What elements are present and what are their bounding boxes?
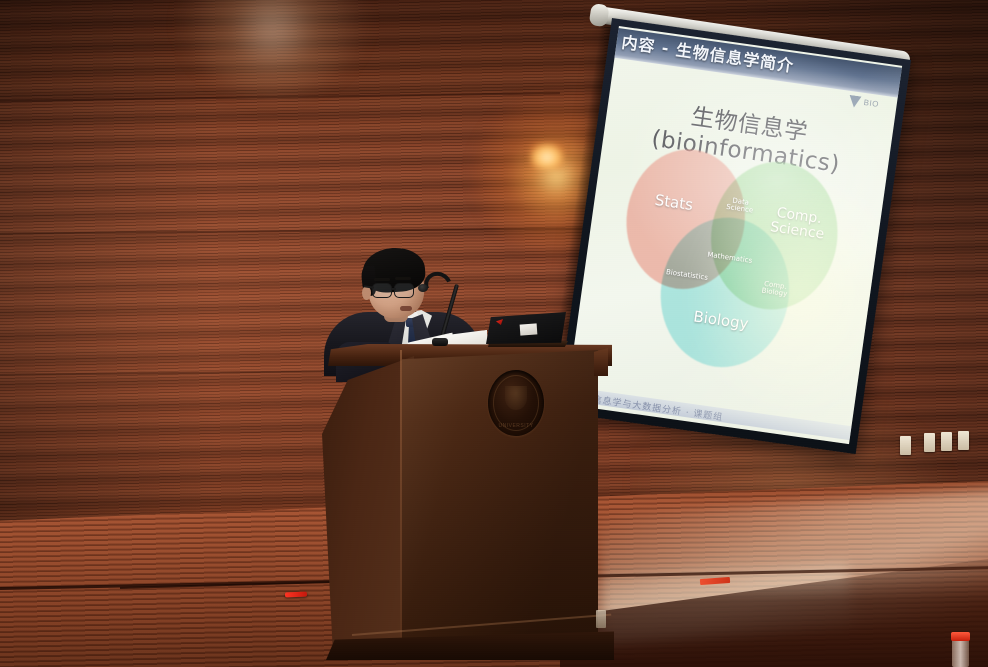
- water-bottle: [952, 638, 969, 667]
- logo-wordmark: BIO: [863, 98, 879, 109]
- red-cable-segment: [285, 592, 307, 598]
- light-switch-plate-4[interactable]: [958, 431, 969, 450]
- eyeglasses-lens-right: [394, 283, 414, 298]
- laptop[interactable]: [486, 312, 568, 350]
- projected-slide: 内容 - 生物信息学简介 BIO 生物信息学(bioinformatics) S…: [566, 26, 902, 444]
- eyeglasses-bridge: [391, 288, 396, 290]
- podium-right-lip: [594, 348, 608, 376]
- microphone-capsule-icon: [418, 284, 428, 292]
- podium-emblem-seal: UNIVERSITY: [488, 370, 544, 436]
- podium-side-fitting: [596, 610, 606, 628]
- logo-mark-icon: [848, 95, 862, 109]
- wall-sconce-lamp: [530, 143, 564, 169]
- eyeglasses-lens-left: [372, 283, 392, 298]
- microphone-base: [432, 338, 448, 346]
- emblem-text: UNIVERSITY: [498, 423, 533, 429]
- light-switch-plate-3[interactable]: [941, 432, 952, 451]
- light-switch-panel-group[interactable]: [900, 430, 984, 456]
- venn-diagram: Stats Comp. Science Biology Data Science…: [601, 141, 859, 386]
- podium: UNIVERSITY: [322, 338, 612, 658]
- emblem-crest-icon: [505, 386, 527, 410]
- laptop-sticker: [520, 323, 538, 335]
- presenter-ear: [362, 286, 371, 300]
- light-switch-plate-1[interactable]: [900, 436, 911, 455]
- presenter-mouth: [400, 306, 412, 311]
- presenter-eyebrow-right: [395, 277, 411, 280]
- slide-logo: BIO: [848, 95, 889, 113]
- light-switch-plate-2[interactable]: [924, 433, 935, 452]
- lecture-hall-photo: 内容 - 生物信息学简介 BIO 生物信息学(bioinformatics) S…: [0, 0, 988, 667]
- water-bottle-cap: [951, 632, 970, 641]
- podium-corner-highlight: [400, 350, 402, 656]
- presenter-eyebrow-left: [374, 278, 390, 281]
